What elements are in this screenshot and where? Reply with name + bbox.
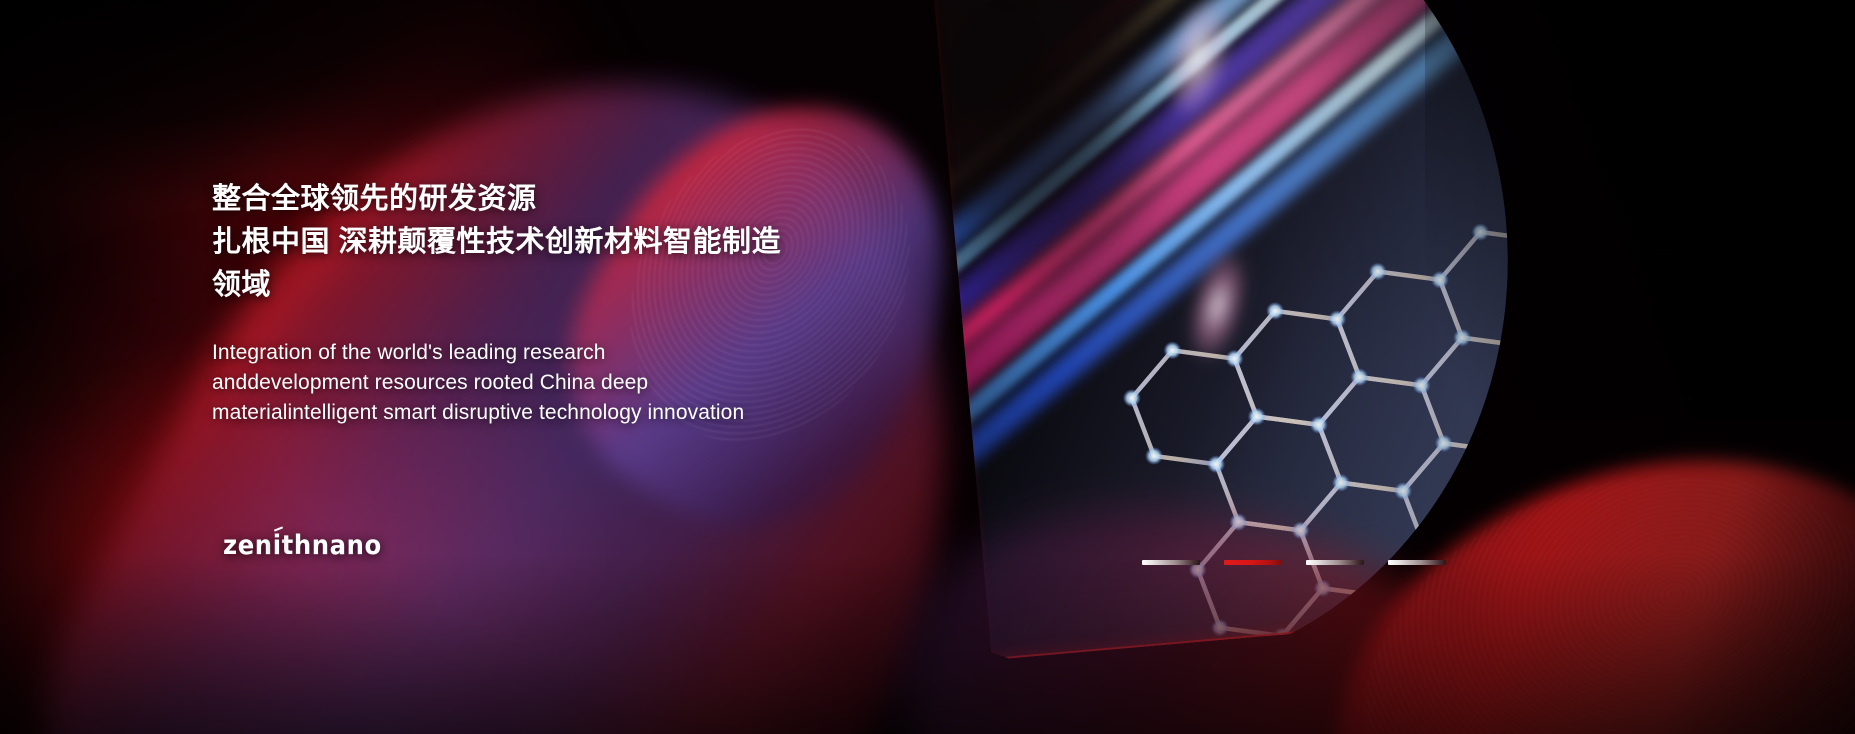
zenithnano-logo[interactable]: zenithnano — [223, 530, 382, 561]
logo-part-i: i — [273, 530, 282, 561]
hero-headline-chinese: 整合全球领先的研发资源 扎根中国 深耕颠覆性技术创新材料智能制造 领域 — [212, 178, 952, 307]
logo-part-before-i: zen — [223, 530, 273, 561]
carousel-indicator-3[interactable] — [1306, 560, 1364, 565]
hero-banner: 整合全球领先的研发资源 扎根中国 深耕颠覆性技术创新材料智能制造 领域 Inte… — [0, 0, 1855, 734]
carousel-indicator-2[interactable] — [1224, 560, 1282, 565]
carousel-indicator-1[interactable] — [1142, 560, 1200, 565]
hero-text-block: 整合全球领先的研发资源 扎根中国 深耕颠覆性技术创新材料智能制造 领域 Inte… — [212, 178, 952, 428]
carousel-indicators[interactable] — [1142, 560, 1446, 565]
hero-subheadline-english: Integration of the world's leading resea… — [212, 338, 952, 428]
carousel-indicator-4[interactable] — [1388, 560, 1446, 565]
logo-part-after-i: thnano — [282, 530, 382, 561]
